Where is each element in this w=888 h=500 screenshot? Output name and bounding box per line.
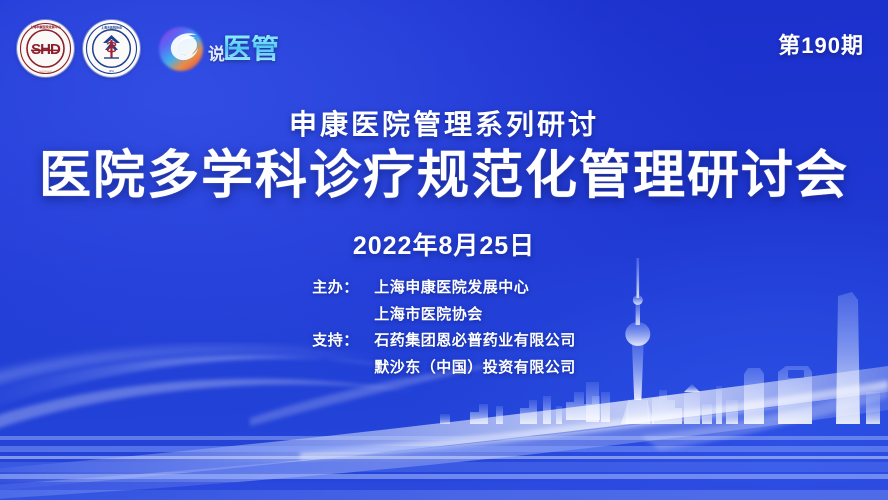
support-org-2: 默沙东（中国）投资有限公司 [374, 357, 576, 380]
sha-seal-icon: 上海市医院协会 SHA [83, 20, 140, 77]
support-label-spacer [312, 357, 374, 380]
credit-row-support-2: 默沙东（中国）投资有限公司 [312, 357, 576, 380]
page-title: 医院多学科诊疗规范化管理研讨会 [0, 148, 888, 204]
svg-text:上海市医院协会: 上海市医院协会 [101, 24, 123, 29]
sha-seal-logo: 上海市医院协会 SHA [83, 20, 140, 77]
bottom-light-bands [0, 382, 888, 500]
svg-text:SHA: SHA [109, 70, 114, 73]
credit-row-host-2: 上海市医院协会 [312, 304, 576, 327]
shuoyiguan-char-yiguan: 医管 [223, 35, 279, 63]
poster-header: 上海申康医院发展中心 SHENKANG SHD [0, 0, 888, 92]
logo-group: 上海申康医院发展中心 SHENKANG SHD [17, 20, 279, 77]
series-title: 申康医院管理系列研讨 [0, 103, 888, 143]
support-org-1: 石药集团恩必普药业有限公司 [374, 330, 576, 353]
host-org-1: 上海申康医院发展中心 [374, 277, 529, 300]
gradient-c-icon [155, 23, 207, 75]
credits-block: 主办： 上海申康医院发展中心 上海市医院协会 支持： 石药集团恩必普药业有限公司… [0, 277, 888, 379]
issue-number: 第190期 [778, 28, 864, 60]
svg-text:上海申康医院发展中心: 上海申康医院发展中心 [30, 24, 62, 29]
shuoyiguan-logo: 说 医管 [155, 23, 279, 75]
host-label-spacer [312, 304, 374, 327]
credit-row-support-1: 支持： 石药集团恩必普药业有限公司 [312, 330, 576, 353]
svg-text:SHENKANG: SHENKANG [39, 70, 53, 73]
host-org-2: 上海市医院协会 [374, 304, 483, 327]
event-date: 2022年8月25日 [0, 226, 888, 262]
support-label: 支持： [312, 330, 374, 353]
host-label: 主办： [312, 277, 374, 300]
event-poster: 上海申康医院发展中心 SHENKANG SHD [0, 0, 888, 500]
credit-row-host-1: 主办： 上海申康医院发展中心 [312, 277, 576, 300]
shdc-seal-icon: 上海申康医院发展中心 SHENKANG SHD [17, 20, 74, 77]
shuoyiguan-wordmark: 说 医管 [208, 35, 279, 63]
shdc-seal-logo: 上海申康医院发展中心 SHENKANG SHD [17, 20, 74, 77]
